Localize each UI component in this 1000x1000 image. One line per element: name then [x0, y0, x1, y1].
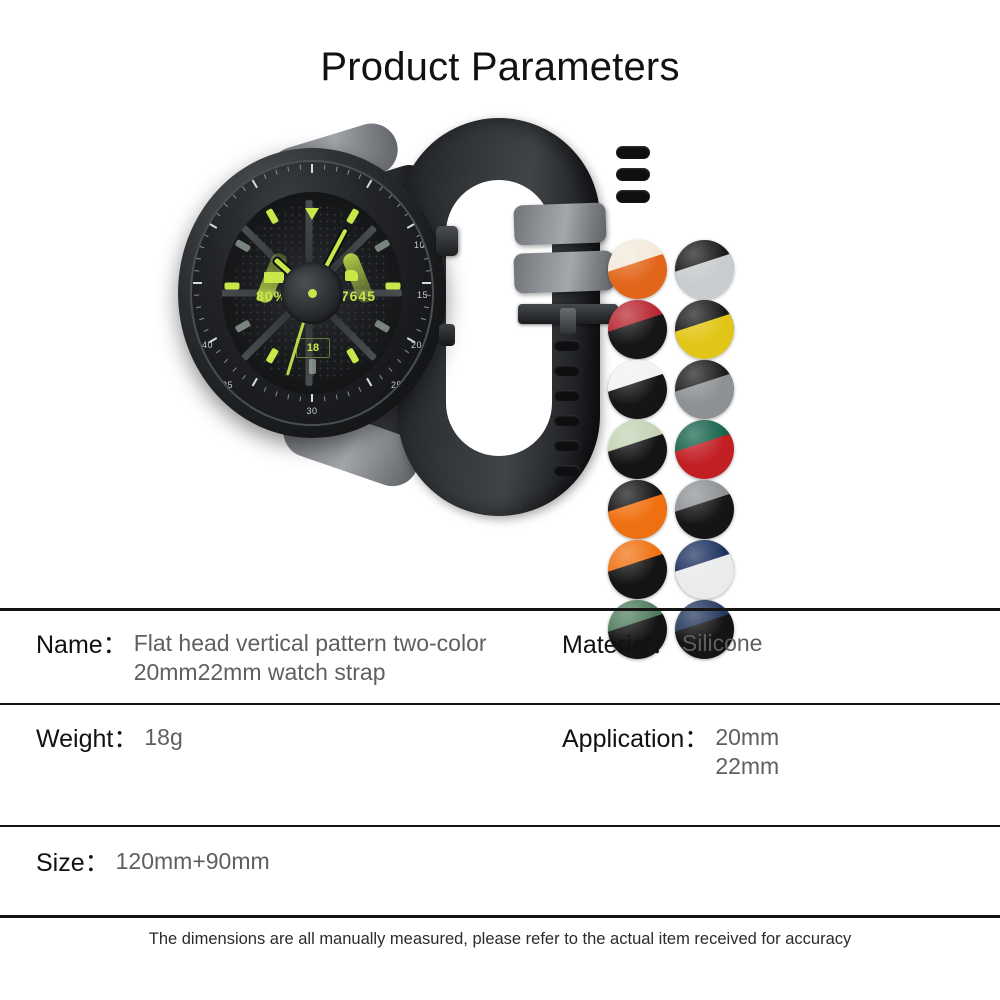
- spec-cell-material: Material： Silicone: [540, 611, 1000, 703]
- color-swatch[interactable]: [608, 420, 667, 479]
- strap-buckle-tongue: [560, 308, 576, 334]
- spec-value-material: Silicone: [676, 629, 763, 658]
- table-row: Name： Flat head vertical pattern two-col…: [0, 611, 1000, 705]
- battery-icon: [264, 272, 284, 283]
- color-swatch[interactable]: [675, 480, 734, 539]
- strap-adjust-holes: [554, 340, 580, 490]
- spec-label-size: Size：: [36, 847, 110, 879]
- spec-cell-name: Name： Flat head vertical pattern two-col…: [0, 611, 540, 703]
- color-swatch[interactable]: [675, 300, 734, 359]
- dial-center-dot: [308, 289, 317, 298]
- table-row: Size： 120mm+90mm: [0, 827, 1000, 915]
- color-swatch-grid: [608, 240, 738, 660]
- watch-crown: [436, 226, 458, 256]
- bezel-number-15: 15: [417, 290, 428, 300]
- spec-value-size: 120mm+90mm: [110, 847, 270, 876]
- spec-value-application: 20mm 22mm: [709, 723, 779, 782]
- spec-cell-size: Size： 120mm+90mm: [0, 827, 1000, 915]
- color-swatch[interactable]: [608, 300, 667, 359]
- spec-cell-application: Application： 20mm 22mm: [540, 705, 1000, 825]
- color-swatch[interactable]: [675, 540, 734, 599]
- color-swatch[interactable]: [675, 420, 734, 479]
- watch-pusher: [439, 324, 455, 346]
- color-swatch[interactable]: [608, 360, 667, 419]
- watch-bezel: 05 10 15 20 25 30 35 40: [190, 160, 434, 426]
- footsteps-icon: [345, 270, 358, 281]
- bezel-number-35: 35: [222, 380, 233, 390]
- watch-case: 05 10 15 20 25 30 35 40: [178, 148, 446, 438]
- bezel-number-40: 40: [202, 340, 213, 350]
- color-swatch[interactable]: [608, 240, 667, 299]
- strap-keeper-upper: [513, 202, 606, 245]
- color-swatch[interactable]: [675, 360, 734, 419]
- date-complication: 18: [296, 338, 330, 358]
- bezel-number-30: 30: [306, 406, 317, 416]
- spec-value-name: Flat head vertical pattern two-color 20m…: [128, 629, 487, 688]
- bezel-number-05: 05: [399, 192, 410, 202]
- spec-value-weight: 18g: [138, 723, 182, 752]
- color-swatch[interactable]: [675, 240, 734, 299]
- page-title: Product Parameters: [0, 0, 1000, 90]
- watch-dial: 80% 7645 18: [222, 192, 402, 394]
- color-swatch[interactable]: [608, 480, 667, 539]
- product-hero: 05 10 15 20 25 30 35 40: [0, 90, 1000, 555]
- strap-keeper-lower: [513, 250, 614, 293]
- bezel-number-20: 20: [411, 340, 422, 350]
- spec-label-weight: Weight：: [36, 723, 138, 755]
- color-swatch[interactable]: [608, 540, 667, 599]
- bezel-number-10: 10: [414, 240, 425, 250]
- product-spec-table: Name： Flat head vertical pattern two-col…: [0, 608, 1000, 918]
- watch-product-image: 05 10 15 20 25 30 35 40: [160, 100, 590, 530]
- step-count-text: 7645: [341, 288, 376, 304]
- spec-label-application: Application：: [562, 723, 709, 755]
- table-row: Weight： 18g Application： 20mm 22mm: [0, 705, 1000, 827]
- dial-top-triangle-marker: [305, 208, 319, 220]
- spec-label-name: Name：: [36, 629, 128, 661]
- spec-label-material: Material：: [562, 629, 676, 661]
- spec-cell-weight: Weight： 18g: [0, 705, 540, 825]
- bezel-number-25: 25: [391, 380, 402, 390]
- footer-disclaimer: The dimensions are all manually measured…: [0, 930, 1000, 949]
